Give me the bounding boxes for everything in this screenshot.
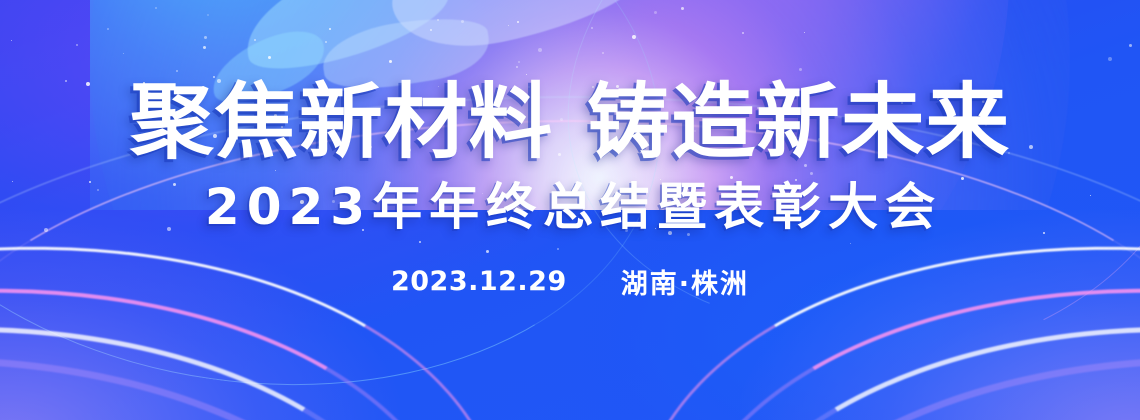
event-meta: 2023.12.29 湖南·株洲 (391, 262, 749, 301)
headline-part-1: 聚焦新材料 (130, 82, 553, 164)
event-location: 湖南·株洲 (621, 262, 749, 301)
subtitle: 2023年年终总结暨表彰大会 (198, 182, 942, 232)
event-date: 2023.12.29 (391, 266, 567, 297)
banner-content: 聚焦新材料 铸造新未来 2023年年终总结暨表彰大会 2023.12.29 湖南… (0, 0, 1140, 420)
headline: 聚焦新材料 铸造新未来 (134, 82, 1006, 164)
headline-part-2: 铸造新未来 (587, 82, 1010, 164)
event-banner: 聚焦新材料 铸造新未来 2023年年终总结暨表彰大会 2023.12.29 湖南… (0, 0, 1140, 420)
